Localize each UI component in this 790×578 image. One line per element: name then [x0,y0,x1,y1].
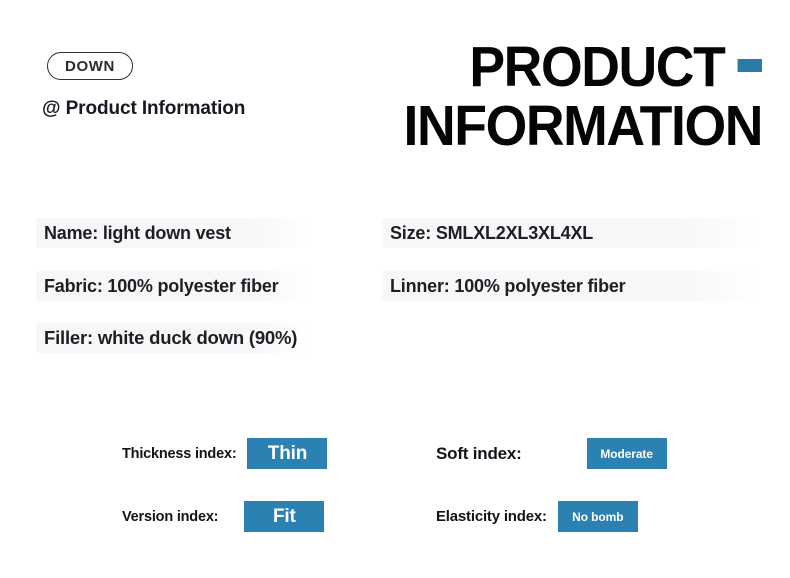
spec-row-text: Linner: 100% polyester fiber [390,276,625,297]
index-label: Soft index: [436,444,522,464]
title-line-two: INFORMATION [273,99,762,153]
index-row-soft: Soft index: Moderate [436,438,667,469]
index-row-thickness: Thickness index: Thin [122,438,327,469]
spec-row-fabric: Fabric: 100% polyester fiber [36,271,311,301]
index-label: Elasticity index: [436,508,547,525]
spec-row-linner: Linner: 100% polyester fiber [382,271,760,301]
index-value-badge: Moderate [587,438,667,469]
spec-row-text: Name: light down vest [44,223,231,244]
index-value-badge: No bomb [558,501,638,532]
spec-row-size: Size: SMLXL2XL3XL4XL [382,218,760,248]
index-row-elasticity: Elasticity index: No bomb [436,501,638,532]
category-tag-label: DOWN [65,58,115,75]
title-word-product: PRODUCT [469,40,724,94]
product-information-card: DOWN @ Product Information PRODUCT INFOR… [0,0,790,578]
accent-dash-icon [738,59,762,72]
index-label: Thickness index: [122,446,236,462]
spec-row-name: Name: light down vest [36,218,311,248]
page-title: PRODUCT INFORMATION [242,40,762,153]
spec-row-text: Size: SMLXL2XL3XL4XL [390,223,593,244]
title-line-one: PRODUCT [273,40,762,94]
index-row-version: Version index: Fit [122,501,324,532]
spec-row-filler: Filler: white duck down (90%) [36,323,311,353]
category-tag-down: DOWN [47,52,133,80]
index-value-badge: Fit [244,501,324,532]
section-subtitle: @ Product Information [42,98,245,120]
index-value-badge: Thin [247,438,327,469]
spec-row-text: Filler: white duck down (90%) [44,327,297,349]
spec-row-text: Fabric: 100% polyester fiber [44,276,279,297]
index-label: Version index: [122,509,218,525]
